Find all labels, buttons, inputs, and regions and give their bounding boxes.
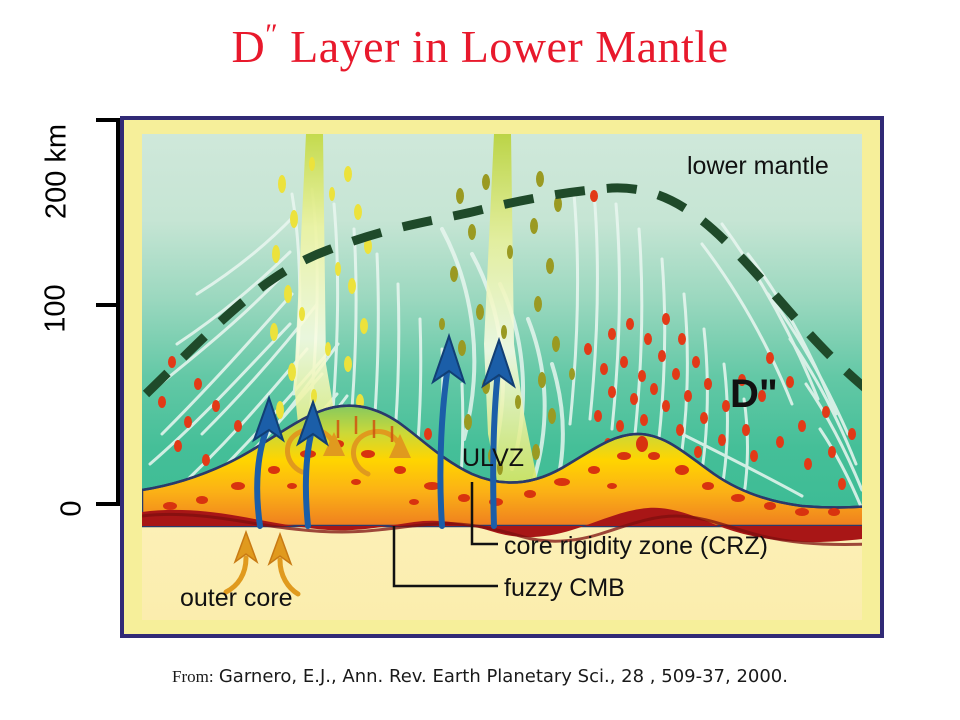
source-citation: From: Garnero, E.J., Ann. Rev. Earth Pla…	[0, 666, 960, 688]
title-prime-marks: ʺ	[265, 18, 278, 51]
label-lower-mantle: lower mantle	[687, 152, 829, 181]
axis-label-200km: 200 km	[41, 112, 74, 232]
title-text: Layer in Lower Mantle	[290, 21, 728, 72]
label-d-double-prime: D"	[730, 372, 778, 417]
label-outer-core: outer core	[180, 584, 293, 613]
title-symbol: D	[231, 21, 265, 72]
label-fuzzy-cmb: fuzzy CMB	[504, 574, 625, 603]
axis-label-0: 0	[56, 489, 89, 529]
axis-tick-200	[96, 118, 118, 122]
figure-frame: lower mantle D" ULVZ core rigidity zone …	[120, 116, 884, 638]
label-core-rigidity-zone: core rigidity zone (CRZ)	[504, 532, 768, 561]
label-ulvz: ULVZ	[462, 444, 524, 473]
slide-canvas: Dʺ Layer in Lower Mantle 200 km 100 0	[0, 0, 960, 720]
axis-label-100: 100	[40, 275, 73, 343]
page-title: Dʺ Layer in Lower Mantle	[0, 18, 960, 73]
citation-prefix: From:	[172, 667, 214, 686]
core-arrowheads	[235, 532, 291, 564]
axis-tick-0	[96, 502, 118, 506]
citation-reference: Garnero, E.J., Ann. Rev. Earth Planetary…	[219, 666, 788, 687]
figure-canvas: lower mantle D" ULVZ core rigidity zone …	[142, 134, 862, 620]
axis-tick-100	[96, 303, 118, 307]
